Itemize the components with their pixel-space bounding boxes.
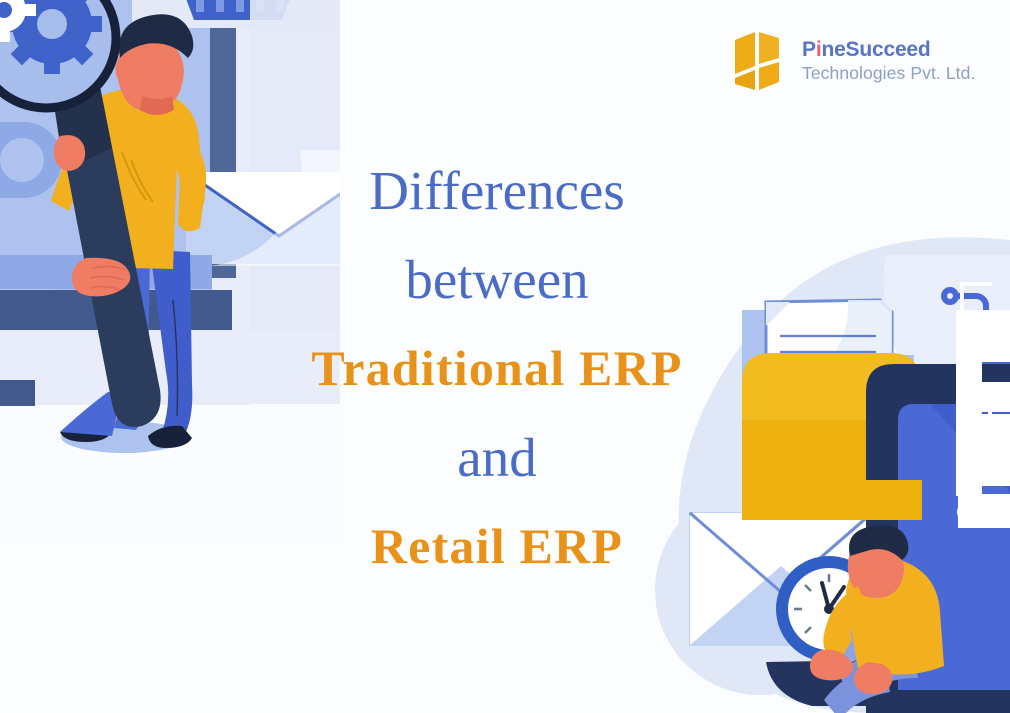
brand-text-block: PineSucceed Technologies Pvt. Ltd.: [802, 39, 975, 83]
headline-line-1: Differences: [262, 146, 732, 235]
brand-name-part1: P: [802, 38, 816, 61]
brand-name-part2: neSucceed: [821, 38, 930, 61]
headline-block: Differences between Traditional ERP and …: [262, 146, 732, 591]
brand-name: PineSucceed: [802, 39, 975, 60]
brand-subtitle: Technologies Pvt. Ltd.: [802, 65, 975, 83]
headline-line-5: Retail ERP: [262, 502, 732, 591]
headline-line-3: Traditional ERP: [262, 324, 732, 413]
letter-e-graphic: [956, 310, 1010, 528]
pinesucceed-logo-icon: [733, 30, 789, 92]
brand-logo: PineSucceed Technologies Pvt. Ltd.: [733, 30, 975, 92]
headline-line-2: between: [262, 235, 732, 324]
headline-line-4: and: [262, 413, 732, 502]
banner-canvas: PineSucceed Technologies Pvt. Ltd. Diffe…: [0, 0, 1010, 713]
